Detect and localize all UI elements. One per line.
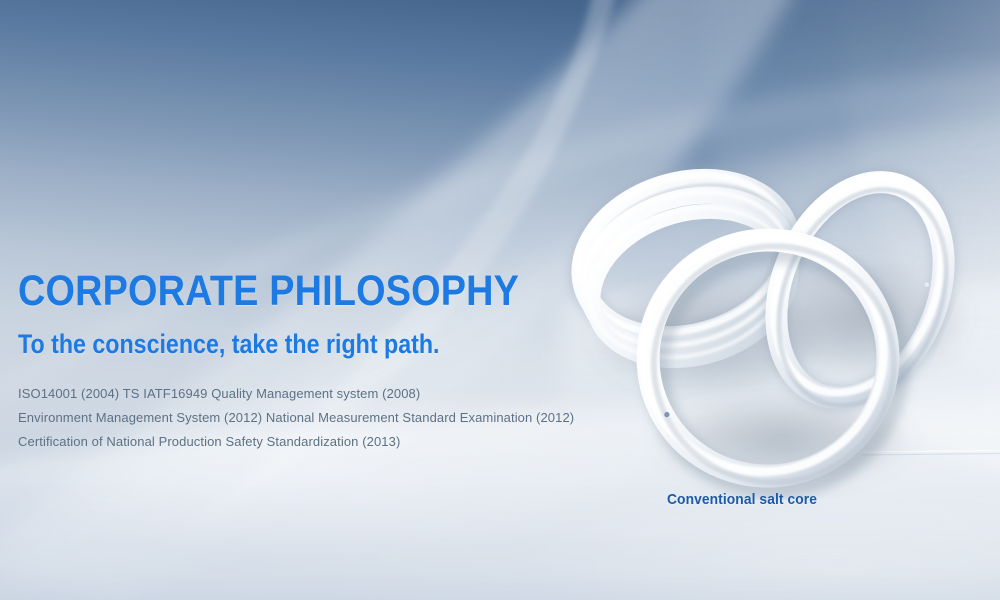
certification-list: ISO14001 (2004) TS IATF16949 Quality Man…	[18, 382, 638, 454]
corporate-philosophy-banner: CORPORATE PHILOSOPHY To the conscience, …	[0, 0, 1000, 600]
headline-block: CORPORATE PHILOSOPHY To the conscience, …	[18, 268, 638, 454]
certification-item: Environment Management System (2012) Nat…	[18, 406, 638, 430]
certification-item: Certification of National Production Saf…	[18, 430, 638, 454]
certification-item: ISO14001 (2004) TS IATF16949 Quality Man…	[18, 382, 638, 406]
page-title: CORPORATE PHILOSOPHY	[18, 268, 564, 314]
product-caption: Conventional salt core	[667, 491, 817, 508]
page-subtitle: To the conscience, take the right path.	[18, 328, 551, 360]
